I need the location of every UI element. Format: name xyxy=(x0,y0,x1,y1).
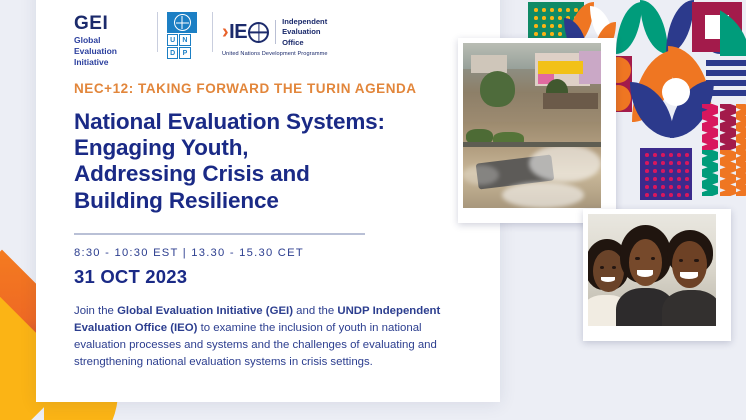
logo-divider-2 xyxy=(212,12,213,52)
gei-tagline-line1: Global xyxy=(74,35,148,46)
logo-bar: GEI Global Evaluation Initiative U N xyxy=(74,12,466,58)
ieo-accent-dot-icon: › xyxy=(222,22,228,42)
teal-zigzag xyxy=(702,150,718,196)
undp-logo: U N D P xyxy=(167,12,203,59)
tile-navy-stripes xyxy=(706,60,746,100)
event-time: 8:30 - 10:30 EST | 13.30 - 15.30 CET xyxy=(74,248,466,259)
undp-letters-row-1: U N xyxy=(167,34,203,46)
navy-stripe-2 xyxy=(706,80,746,86)
title-line-2: Engaging Youth, xyxy=(74,135,466,161)
crimson-zigzag xyxy=(720,104,736,150)
undp-letter-d: D xyxy=(167,47,178,59)
page-title: National Evaluation Systems: Engaging Yo… xyxy=(74,109,466,215)
title-line-3: Addressing Crisis and xyxy=(74,161,466,187)
logo-divider-1 xyxy=(157,12,158,52)
ieo-name: Independent Evaluation Office xyxy=(282,17,327,48)
ieo-subtitle: United Nations Development Programme xyxy=(222,51,328,57)
flood-photo-image xyxy=(463,43,601,208)
navy-stripe-1 xyxy=(706,70,746,76)
teal-quarter-circle xyxy=(720,4,746,56)
un-emblem-box xyxy=(167,12,197,33)
title-line-1: National Evaluation Systems: xyxy=(74,109,466,135)
gei-logo: GEI Global Evaluation Initiative xyxy=(74,12,148,68)
desc-part-1: Join the xyxy=(74,305,117,317)
event-date: 31 OCT 2023 xyxy=(74,268,466,287)
section-divider xyxy=(74,233,365,234)
content-card: GEI Global Evaluation Initiative U N xyxy=(36,0,500,402)
gei-wordmark: GEI xyxy=(74,14,148,33)
tile-teal-quarter xyxy=(720,0,746,56)
people-photo-frame xyxy=(583,209,731,341)
people-photo-image xyxy=(588,214,716,326)
orange-zigzag-3 xyxy=(736,150,746,196)
navy-stripe-3 xyxy=(706,90,746,96)
gei-tagline-line2: Evaluation xyxy=(74,46,148,57)
gei-tagline-line3: Initiative xyxy=(74,57,148,68)
undp-letters-row-2: D P xyxy=(167,47,203,59)
undp-letter-n: N xyxy=(179,34,190,46)
ieo-globe-icon xyxy=(248,22,269,43)
orange-zigzag xyxy=(720,150,736,196)
eyebrow-text: NEC+12: TAKING FORWARD THE TURIN AGENDA xyxy=(74,82,466,96)
event-description: Join the Global Evaluation Initiative (G… xyxy=(74,303,466,371)
ieo-name-line2: Evaluation xyxy=(282,27,327,37)
magenta-zigzag xyxy=(702,104,718,150)
un-globe-icon xyxy=(174,14,191,31)
ieo-wordmark: ›IE xyxy=(222,22,269,43)
poster-canvas: GEI Global Evaluation Initiative U N xyxy=(0,0,746,420)
desc-part-2: and the xyxy=(293,305,337,317)
tile-purple-dotgrid xyxy=(640,148,692,200)
ieo-name-line1: Independent xyxy=(282,17,327,27)
ieo-name-line3: Office xyxy=(282,38,327,48)
title-line-4: Building Resilience xyxy=(74,188,466,214)
navy-stripe-0 xyxy=(706,60,746,66)
undp-letter-u: U xyxy=(167,34,178,46)
undp-letter-p: P xyxy=(179,47,190,59)
desc-bold-gei: Global Evaluation Initiative (GEI) xyxy=(117,305,293,317)
white-center-circle xyxy=(662,78,690,106)
flood-photo-frame xyxy=(458,38,616,223)
ieo-divider xyxy=(275,20,276,44)
orange-zigzag-2 xyxy=(736,104,746,150)
gei-tagline: Global Evaluation Initiative xyxy=(74,35,148,68)
ieo-logo: ›IE Independent Evaluation Office United… xyxy=(222,12,328,57)
